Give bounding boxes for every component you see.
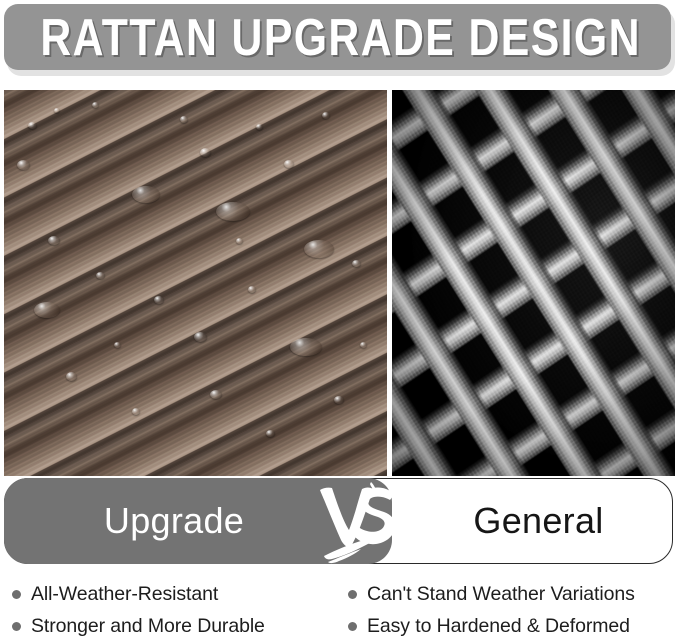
water-droplet — [154, 296, 164, 304]
general-label: General — [404, 478, 673, 564]
water-droplet — [28, 122, 37, 129]
water-droplet — [360, 342, 367, 348]
upgrade-label: Upgrade — [4, 478, 344, 564]
brown-rattan-grain-overlay — [4, 90, 387, 476]
feature-bullets: All-Weather-Resistant Stronger and More … — [0, 578, 679, 643]
water-droplet — [194, 332, 207, 342]
general-rattan-photo — [392, 90, 675, 476]
water-droplet — [17, 160, 30, 170]
water-droplet — [284, 160, 294, 168]
list-item: Easy to Hardened & Deformed — [348, 610, 679, 642]
water-droplet — [96, 272, 105, 279]
water-droplet — [132, 408, 140, 415]
comparison-photo-area — [4, 90, 675, 476]
water-droplet — [114, 342, 121, 348]
water-droplet — [216, 202, 250, 221]
water-droplet — [200, 148, 211, 157]
list-item: Can't Stand Weather Variations — [348, 578, 679, 610]
bullet-dot-icon — [348, 622, 357, 631]
water-droplet — [256, 124, 263, 130]
page-title: RATTAN UPGRADE DESIGN — [34, 11, 640, 63]
water-droplet — [322, 112, 330, 119]
list-item-label: All-Weather-Resistant — [31, 583, 218, 605]
header-banner: RATTAN UPGRADE DESIGN — [4, 4, 675, 72]
comparison-bar: Upgrade General — [4, 478, 673, 564]
list-item: All-Weather-Resistant — [12, 578, 342, 610]
list-item-label: Can't Stand Weather Variations — [367, 583, 635, 605]
water-droplet — [34, 302, 60, 318]
general-feature-list: Can't Stand Weather Variations Easy to H… — [348, 578, 679, 642]
water-droplet — [210, 390, 222, 399]
bullet-dot-icon — [12, 590, 21, 599]
water-droplet — [334, 396, 344, 404]
list-item: Stronger and More Durable — [12, 610, 342, 642]
water-droplet — [180, 116, 188, 123]
bullet-dot-icon — [12, 622, 21, 631]
water-droplet — [48, 236, 60, 245]
list-item-label: Easy to Hardened & Deformed — [367, 615, 630, 637]
water-droplet — [266, 430, 275, 437]
water-droplet — [92, 102, 99, 108]
water-droplet — [66, 372, 77, 381]
upgrade-rattan-photo — [4, 90, 387, 476]
gray-wicker-vignette — [392, 90, 675, 476]
water-droplet — [290, 338, 322, 356]
bullet-dot-icon — [348, 590, 357, 599]
water-droplet — [352, 260, 361, 267]
header-banner-bar: RATTAN UPGRADE DESIGN — [4, 4, 671, 70]
water-droplet — [236, 238, 243, 244]
upgrade-feature-list: All-Weather-Resistant Stronger and More … — [12, 578, 342, 642]
water-droplet — [248, 286, 256, 293]
list-item-label: Stronger and More Durable — [31, 615, 265, 637]
water-droplet — [132, 186, 160, 203]
vs-icon — [314, 480, 400, 564]
water-droplet — [54, 108, 60, 113]
water-droplet — [304, 240, 334, 258]
